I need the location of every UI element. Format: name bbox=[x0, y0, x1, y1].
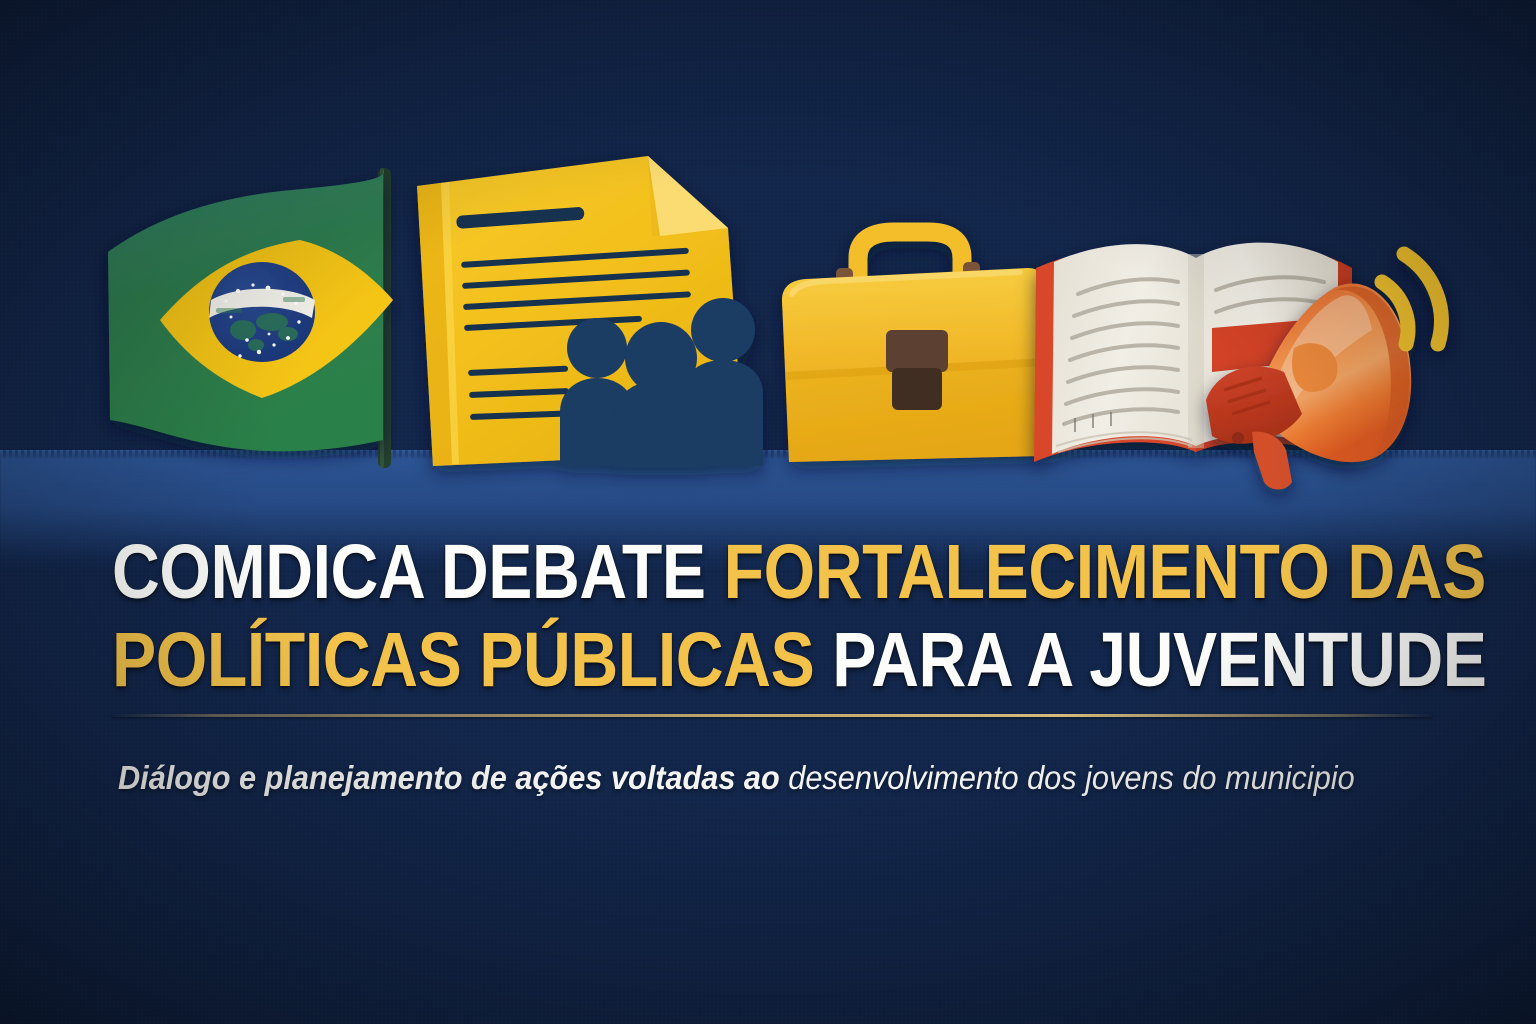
people-group-icon bbox=[560, 298, 763, 468]
title-line2-yellow: POLÍTICAS PÚBLICAS bbox=[112, 617, 832, 703]
title-line1-yellow: FORTALECIMENTO DAS bbox=[724, 529, 1486, 615]
title-line1-white: COMDICA DEBATE bbox=[112, 529, 724, 615]
page-subtitle: Diálogo e planejamento de ações voltadas… bbox=[118, 756, 1420, 800]
subtitle-light: desenvolvimento dos jovens do municipio bbox=[788, 759, 1354, 796]
briefcase-icon bbox=[782, 232, 1048, 462]
title-line-2: POLÍTICAS PÚBLICAS PARA A JUVENTUDE bbox=[112, 616, 1282, 704]
brazil-flag-icon bbox=[108, 170, 393, 451]
subtitle-strong: Diálogo e planejamento de ações voltadas… bbox=[118, 759, 788, 796]
poster-canvas: COMDICA DEBATE FORTALECIMENTO DAS POLÍTI… bbox=[0, 0, 1536, 1024]
title-line-1: COMDICA DEBATE FORTALECIMENTO DAS bbox=[112, 528, 1282, 616]
document-icon bbox=[417, 156, 763, 468]
page-title: COMDICA DEBATE FORTALECIMENTO DAS POLÍTI… bbox=[112, 528, 1282, 704]
illustration-group bbox=[0, 0, 1536, 1024]
title-divider bbox=[112, 714, 1432, 717]
title-line2-white: PARA A JUVENTUDE bbox=[832, 617, 1486, 703]
